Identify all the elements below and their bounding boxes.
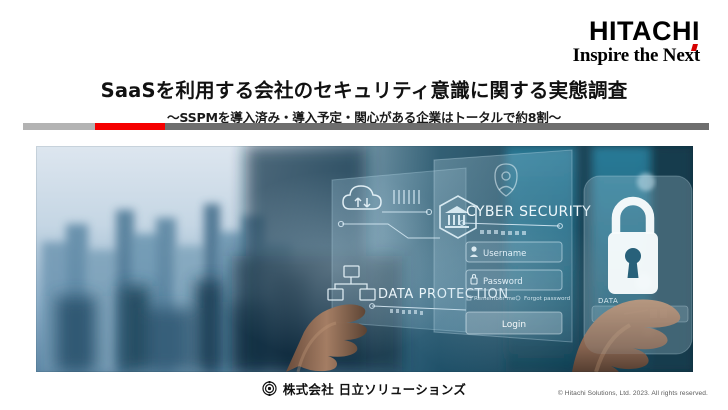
hitachi-tagline: Inspire the Next [573, 46, 700, 65]
hitachi-wordmark: HITACHI [573, 18, 700, 45]
hologram-login-panel: CYBER SECURITY [434, 150, 591, 342]
cyber-security-heading: CYBER SECURITY [466, 204, 591, 220]
hitachi-solutions-mark [262, 381, 277, 396]
divider-segment-red [95, 123, 165, 130]
hitachi-corporate-logo: HITACHI Inspire the Next [573, 18, 700, 65]
footer-company-name: 株式会社 日立ソリューションズ [283, 379, 466, 398]
copyright-text: © Hitachi Solutions, Ltd. 2023. All righ… [558, 390, 708, 397]
slide-root: HITACHI Inspire the Next SaaSを利用する会社のセキュ… [0, 0, 728, 410]
hero-image: DATA PROTECTION [36, 146, 693, 372]
password-field: Password [466, 270, 562, 290]
divider-segment-dark-gray [165, 123, 709, 130]
panel-glass-overlay [584, 176, 692, 354]
page-title: SaaSを利用する会社のセキュリティ意識に関する実態調査 [0, 80, 728, 102]
divider-segment-light-gray [23, 123, 95, 130]
username-label: Username [483, 249, 526, 259]
divider-bar [23, 123, 709, 130]
login-button: Login [466, 312, 562, 334]
login-button-label: Login [502, 320, 526, 330]
username-field: Username [466, 242, 562, 262]
forgot-password-label: Forgot password [524, 296, 571, 302]
hitachi-tagline-text: Inspire the Next [573, 45, 700, 66]
title-block: SaaSを利用する会社のセキュリティ意識に関する実態調査 ～SSPMを導入済み・… [0, 80, 728, 126]
remember-me-label: Remember me [474, 296, 516, 302]
password-label: Password [483, 277, 523, 287]
